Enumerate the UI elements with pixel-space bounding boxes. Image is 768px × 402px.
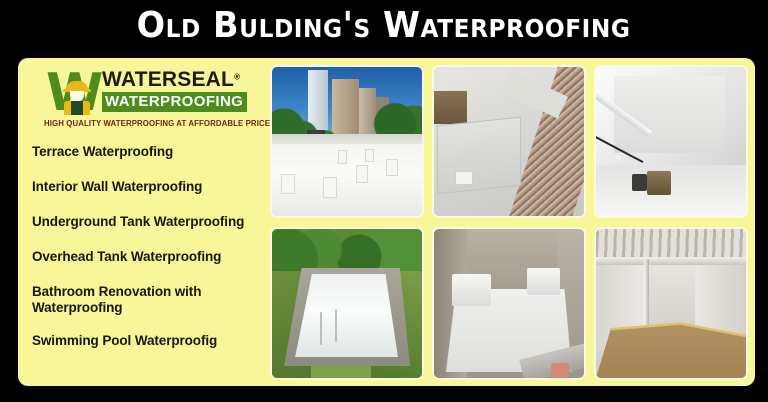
list-item: Overhead Tank Waterproofing	[32, 249, 264, 265]
brand-name: WATERSEAL	[102, 68, 234, 91]
column-shape	[497, 229, 517, 289]
gallery-photo-bathroom	[432, 227, 586, 380]
pump-fitting-shape	[632, 174, 647, 190]
kerb-shape	[527, 268, 560, 295]
list-item: Underground Tank Waterproofing	[32, 214, 264, 230]
coated-deck-shape	[272, 144, 422, 216]
photo-terrace-art	[272, 67, 422, 216]
logo-tagline: HIGH QUALITY WATERPROOFING AT AFFORDABLE…	[44, 119, 260, 128]
photo-roof-slab-art	[434, 67, 584, 216]
pool-rail-shape	[320, 312, 322, 345]
list-item: Terrace Waterproofing	[32, 144, 264, 160]
gallery-photo-basement	[594, 227, 748, 380]
page-title: Old Bulding's Waterproofing	[137, 8, 631, 44]
gallery-photo-terrace	[270, 65, 424, 218]
gallery-photo-swimming-pool	[270, 227, 424, 380]
waterseal-logo: W WATERSEAL® WATERPROOFING HIGH QU	[32, 66, 262, 134]
brand-name-row: WATERSEAL®	[102, 68, 262, 91]
shadow-region	[434, 91, 467, 124]
poster-title-bar: Old Bulding's Waterproofing	[0, 0, 768, 52]
ceiling-beam-shape	[596, 257, 746, 264]
gallery-photo-roof-slab	[432, 65, 586, 218]
content-panel: W WATERSEAL® WATERPROOFING HIGH QU	[18, 58, 755, 386]
services-column: W WATERSEAL® WATERPROOFING HIGH QU	[18, 58, 270, 386]
roof-block-shape	[338, 150, 347, 163]
service-list: Terrace Waterproofing Interior Wall Wate…	[32, 144, 264, 349]
photo-pool-art	[272, 229, 422, 378]
poster-canvas: Old Bulding's Waterproofing W	[0, 0, 768, 402]
brand-subtitle: WATERPROOFING	[102, 92, 247, 112]
list-item: Bathroom Renovation with Waterproofing	[32, 284, 264, 316]
photo-gallery	[270, 65, 750, 380]
roof-block-shape	[323, 177, 337, 198]
photo-bathroom-art	[434, 229, 584, 378]
tank-back-wall	[614, 76, 725, 153]
gallery-photo-tank-interior	[594, 65, 748, 218]
photo-tank-art	[596, 67, 746, 216]
roof-block-shape	[356, 165, 368, 183]
logo-wordmark: WATERSEAL® WATERPROOFING	[102, 68, 262, 112]
roof-block-shape	[365, 149, 374, 162]
bucket-shape	[551, 363, 569, 378]
list-item: Swimming Pool Waterproofig	[32, 333, 264, 349]
coated-slab-shape	[437, 116, 521, 193]
vent-shape	[455, 171, 473, 184]
roof-block-shape	[281, 174, 295, 193]
list-item: Interior Wall Waterproofing	[32, 179, 264, 195]
photo-basement-art	[596, 229, 746, 378]
worker-icon	[63, 81, 91, 115]
pool-rail-shape	[335, 309, 337, 342]
tank-floor	[596, 165, 746, 216]
vest-shape	[71, 101, 83, 115]
pump-shape	[647, 171, 671, 195]
registered-mark-icon: ®	[234, 73, 240, 82]
logo-mark: W	[46, 70, 108, 118]
kerb-shape	[452, 274, 491, 307]
roof-block-shape	[386, 159, 398, 175]
